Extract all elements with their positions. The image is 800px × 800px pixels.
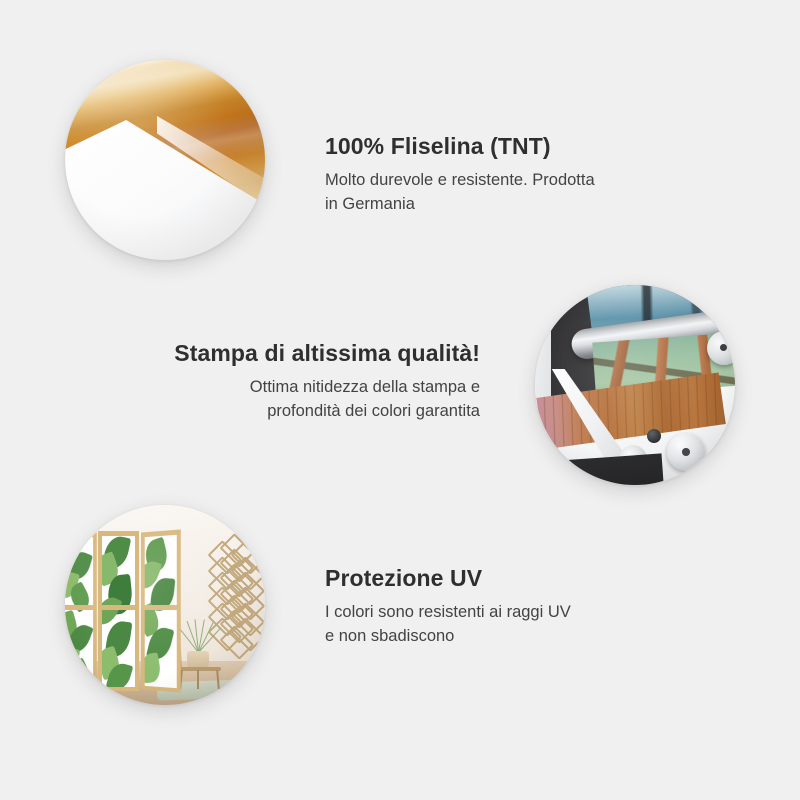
divider-panel-2 [98,531,139,691]
feature-block-uv: Protezione UV I colori sono resistenti a… [0,0,800,800]
tropical-leaf-pattern [102,536,135,687]
image-vignette [65,505,265,705]
feature-description-line-2: e non sbadiscono [325,625,725,649]
feature-title: Protezione UV [325,565,725,591]
feature-text-uv: Protezione UV I colori sono resistenti a… [325,565,725,649]
promo-banner: 100% Fliselina (TNT) Molto durevole e re… [0,0,800,800]
feature-description-line-1: I colori sono resistenti ai raggi UV [325,601,725,625]
tropical-room-divider-image [65,505,265,705]
